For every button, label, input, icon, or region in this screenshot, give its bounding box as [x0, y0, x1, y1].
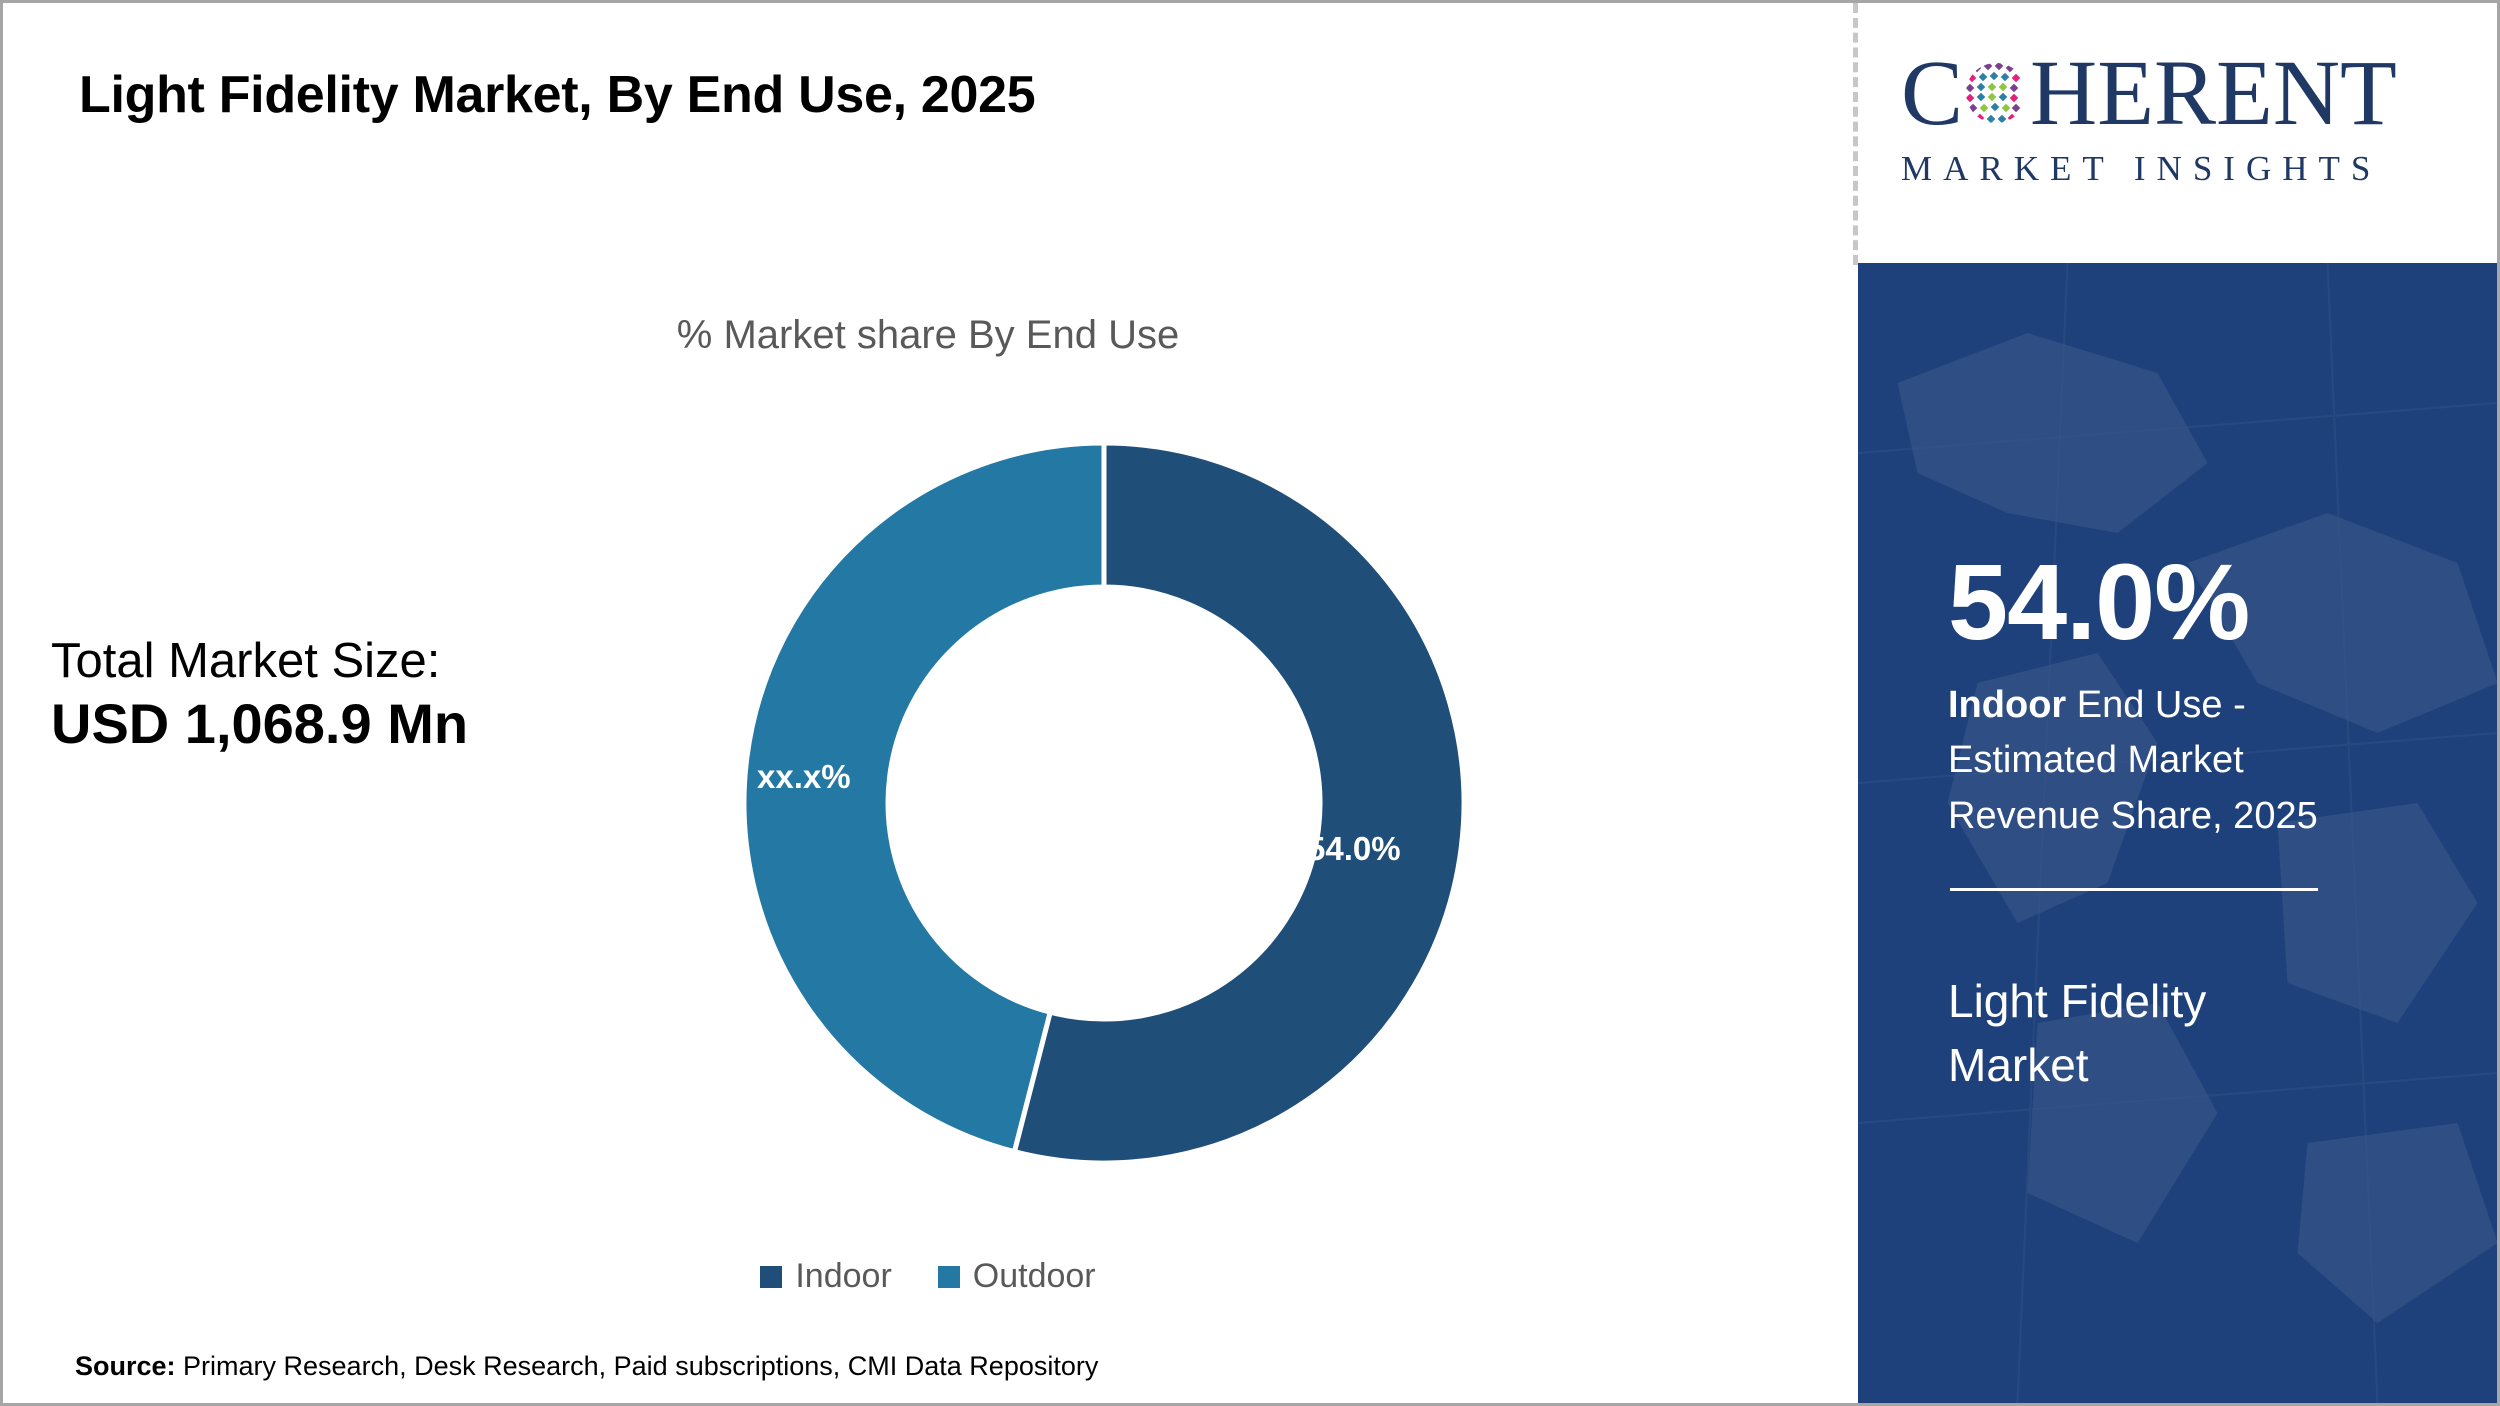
globe-icon — [1964, 58, 2028, 128]
logo-letters-herent: HERENT — [2030, 47, 2397, 140]
chart-subtitle: % Market share By End Use — [3, 313, 1853, 358]
logo-letter-c: C — [1901, 47, 1963, 140]
legend-swatch-icon — [760, 1266, 782, 1288]
panel-divider-rule — [1950, 888, 2318, 891]
slice-label-indoor: 54.0% — [1307, 830, 1401, 868]
slice-label-outdoor: xx.x% — [757, 758, 851, 796]
legend-label-outdoor: Outdoor — [973, 1257, 1096, 1296]
legend-item-indoor[interactable]: Indoor — [760, 1257, 891, 1296]
stat-value: 54.0% — [1948, 548, 2249, 656]
source-text: Primary Research, Desk Research, Paid su… — [176, 1351, 1099, 1381]
total-market-size-value: USD 1,068.9 Mn — [51, 691, 671, 757]
legend-label-indoor: Indoor — [795, 1257, 891, 1296]
coherent-market-insights-logo: C — [1901, 43, 2461, 218]
panel-market-name: Light Fidelity Market — [1948, 969, 2348, 1098]
chart-legend: Indoor Outdoor — [3, 1257, 1853, 1296]
side-panel-content: 54.0% Indoor End Use - Estimated Market … — [1948, 263, 2442, 1403]
stat-caption-segment: Indoor — [1948, 684, 2066, 726]
page-title: Light Fidelity Market, By End Use, 2025 — [79, 65, 1035, 125]
total-market-size-label: Total Market Size: — [51, 633, 671, 691]
total-market-size-block: Total Market Size: USD 1,068.9 Mn — [51, 633, 671, 757]
stat-caption: Indoor End Use - Estimated Market Revenu… — [1948, 678, 2368, 844]
logo-tagline: MARKET INSIGHTS — [1901, 149, 2461, 189]
source-prefix: Source: — [75, 1351, 176, 1381]
highlight-side-panel: 54.0% Indoor End Use - Estimated Market … — [1858, 263, 2497, 1403]
logo-wordmark: C — [1901, 43, 2461, 143]
donut-chart: xx.x% 54.0% — [739, 438, 1469, 1168]
vertical-dashed-divider — [1853, 3, 1858, 265]
legend-swatch-icon — [938, 1266, 960, 1288]
legend-item-outdoor[interactable]: Outdoor — [938, 1257, 1096, 1296]
infographic-frame: Light Fidelity Market, By End Use, 2025 … — [0, 0, 2500, 1406]
source-note: Source: Primary Research, Desk Research,… — [75, 1351, 1098, 1382]
